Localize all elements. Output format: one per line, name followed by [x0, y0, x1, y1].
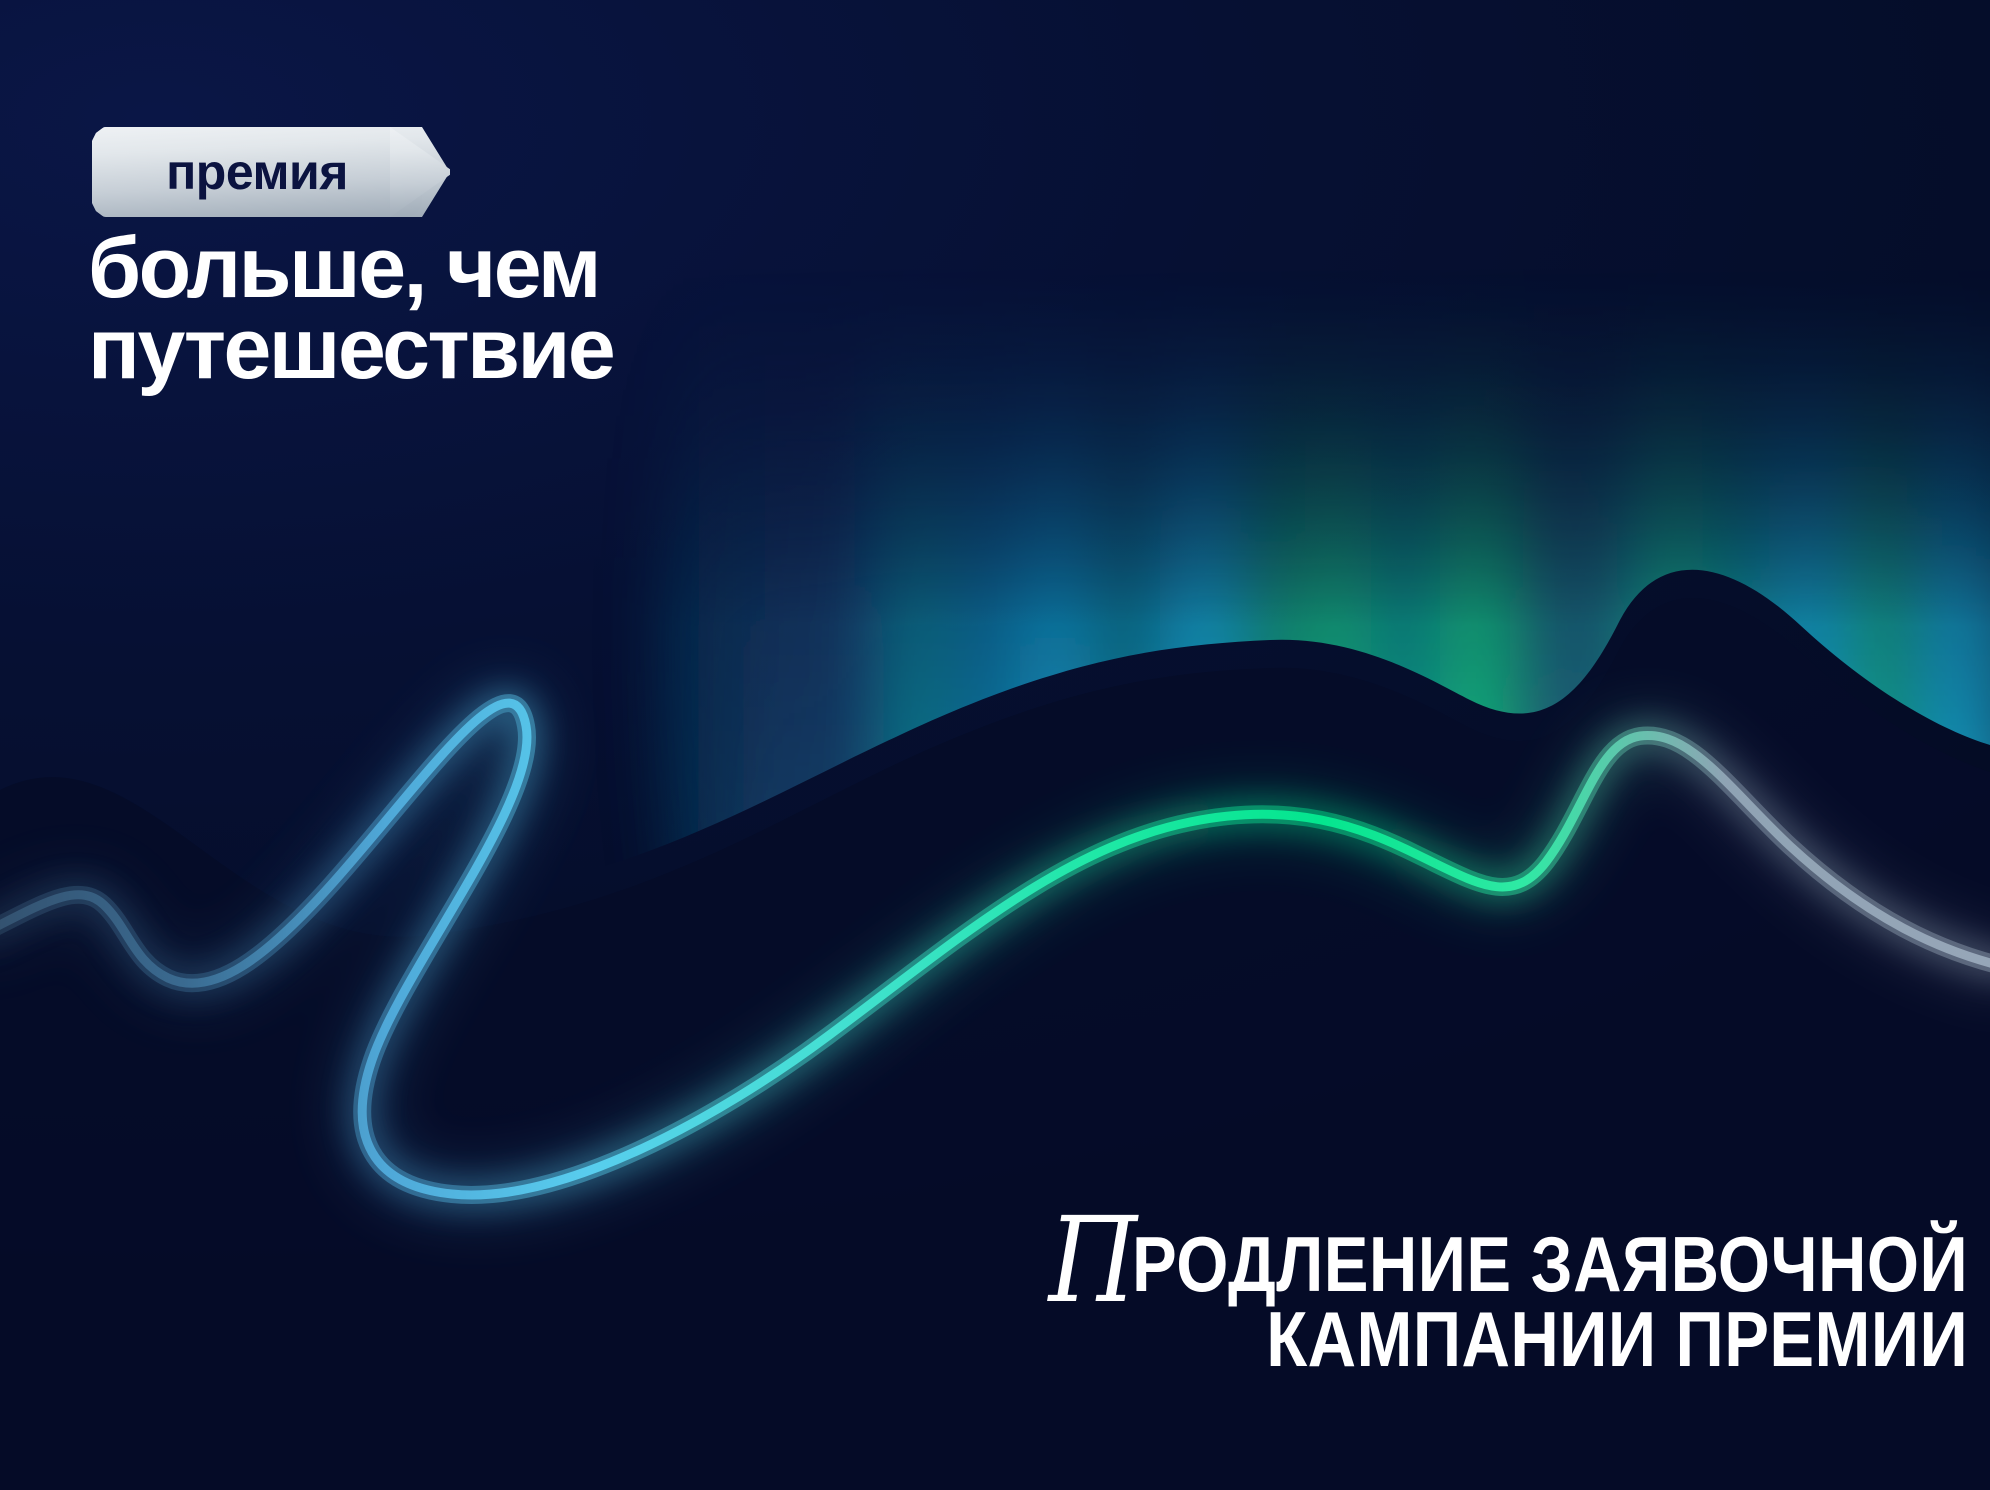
badge-label: премия: [92, 127, 422, 217]
headline-line-2: путешествие: [88, 309, 1088, 390]
announcement-caption: ПРОДЛЕНИЕ ЗАЯВОЧНОЙ КАМПАНИИ ПРЕМИИ: [899, 1227, 1968, 1378]
caption-line-2: КАМПАНИИ ПРЕМИИ: [1049, 1302, 1968, 1378]
poster-canvas: премия больше, чем путешествие ПРОДЛЕНИЕ…: [0, 0, 1990, 1490]
premium-badge: премия: [92, 127, 448, 217]
page-title: больше, чем путешествие: [88, 228, 1088, 390]
caption-line-1: ПРОДЛЕНИЕ ЗАЯВОЧНОЙ: [1049, 1227, 1968, 1303]
